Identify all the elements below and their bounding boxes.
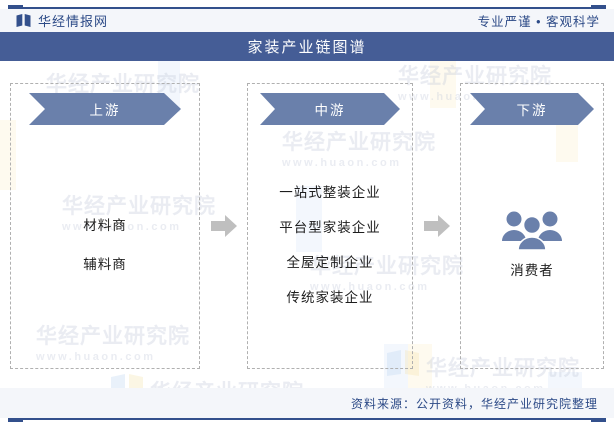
panel-downstream: 下游 消费者 [460, 83, 604, 369]
banner-midstream: 中游 [260, 93, 400, 125]
node-item: 一站式整装企业 [279, 181, 381, 201]
open-book-icon [16, 14, 31, 27]
banner-label: 下游 [517, 99, 548, 119]
header-tagline: 专业严谨 • 客观科学 [478, 11, 600, 30]
panel-body-upstream: 材料商 辅料商 [11, 125, 199, 368]
brand: 华经情报网 [16, 11, 108, 30]
panel-body-downstream: 消费者 [461, 125, 603, 368]
industry-chain-diagram: 上游 材料商 辅料商 中游 一站式整装企业 平台型家装企业 [0, 61, 614, 381]
connector-midstream-to-downstream [413, 83, 460, 369]
brand-name: 华经情报网 [38, 11, 108, 30]
source-note: 资料来源：公开资料，华经产业研究院整理 [351, 395, 598, 412]
right-arrow-icon [424, 214, 450, 238]
node-item: 平台型家装企业 [279, 216, 381, 236]
right-arrow-icon [211, 214, 237, 238]
page-title: 家装产业链图谱 [247, 36, 366, 57]
banner-upstream: 上游 [29, 93, 181, 125]
panel-midstream: 中游 一站式整装企业 平台型家装企业 全屋定制企业 传统家装企业 [247, 83, 413, 369]
banner-downstream: 下游 [470, 93, 594, 125]
node-item: 辅料商 [83, 253, 127, 273]
node-item: 全屋定制企业 [287, 251, 374, 271]
banner-label: 中游 [315, 99, 346, 119]
people-group-icon [501, 209, 563, 251]
chart-page: 华经产业研究院 www.huaon.com 华经产业研究院 www.huaon.… [0, 0, 614, 427]
footer-bar: 资料来源：公开资料，华经产业研究院整理 [0, 388, 614, 418]
banner-label: 上游 [90, 99, 121, 119]
node-item: 传统家装企业 [287, 286, 374, 306]
node-item: 材料商 [83, 214, 127, 234]
title-bar: 家装产业链图谱 [0, 32, 614, 61]
connector-upstream-to-midstream [200, 83, 247, 369]
panel-upstream: 上游 材料商 辅料商 [10, 83, 200, 369]
node-item: 消费者 [510, 259, 554, 279]
header-bar: 华经情报网 专业严谨 • 客观科学 [0, 9, 614, 32]
panel-body-midstream: 一站式整装企业 平台型家装企业 全屋定制企业 传统家装企业 [248, 125, 412, 368]
bottom-rule [8, 418, 606, 420]
